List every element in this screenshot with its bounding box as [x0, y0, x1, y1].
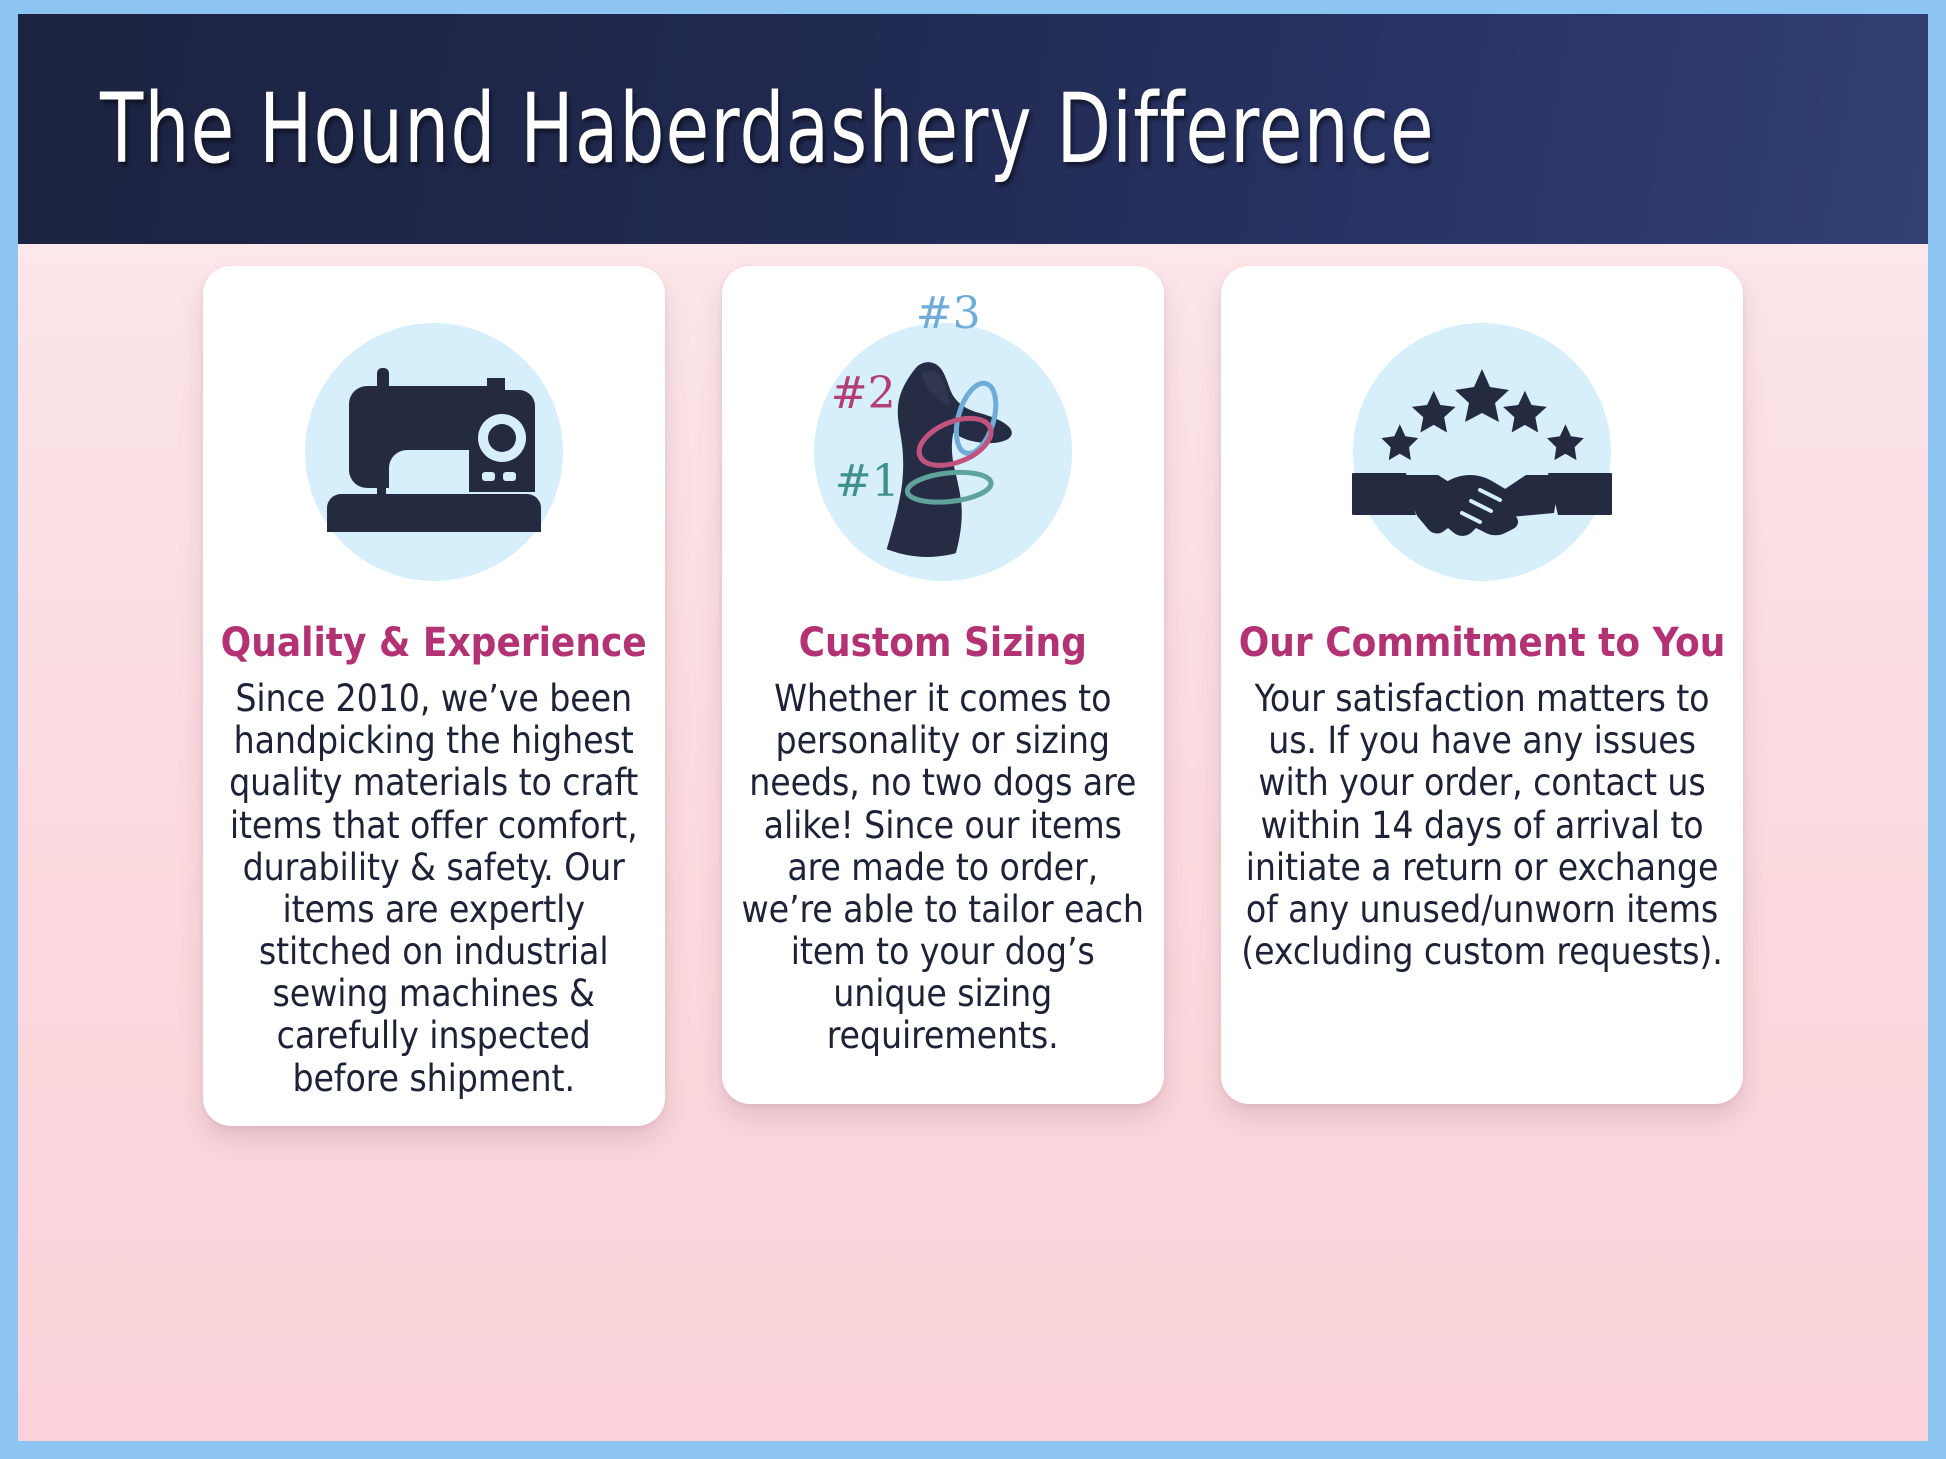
star-icon — [1381, 424, 1418, 460]
measurement-label-1: #1 — [835, 460, 900, 504]
star-icon — [1412, 391, 1456, 433]
star-icon — [1503, 391, 1547, 433]
feature-card-row: Quality & Experience Since 2010, we’ve b… — [18, 244, 1928, 1441]
handshake-stars-icon — [1338, 308, 1626, 596]
feature-card-sizing: #3 #2 #1 — [722, 266, 1164, 1104]
infographic-page: The Hound Haberdashery Difference — [18, 14, 1928, 1441]
header-banner: The Hound Haberdashery Difference — [18, 14, 1928, 244]
sewing-machine-icon — [290, 308, 578, 596]
feature-card-quality: Quality & Experience Since 2010, we’ve b… — [203, 266, 665, 1126]
feature-card-commitment: Our Commitment to You Your satisfaction … — [1221, 266, 1744, 1104]
card-body: Your satisfaction matters to us. If you … — [1239, 678, 1726, 973]
dog-measuring-icon: #3 #2 #1 — [799, 308, 1087, 596]
card-title: Our Commitment to You — [1239, 622, 1726, 664]
page-title: The Hound Haberdashery Difference — [18, 73, 1435, 185]
star-icon — [1455, 369, 1509, 422]
star-icon — [1547, 424, 1584, 460]
card-title: Custom Sizing — [799, 622, 1087, 664]
page-frame: The Hound Haberdashery Difference — [0, 0, 1946, 1459]
card-title: Quality & Experience — [221, 622, 647, 664]
measurement-label-3: #3 — [916, 292, 981, 336]
card-body: Whether it comes to personality or sizin… — [740, 678, 1146, 1058]
measurement-label-2: #2 — [831, 372, 896, 416]
card-body: Since 2010, we’ve been handpicking the h… — [221, 678, 647, 1100]
